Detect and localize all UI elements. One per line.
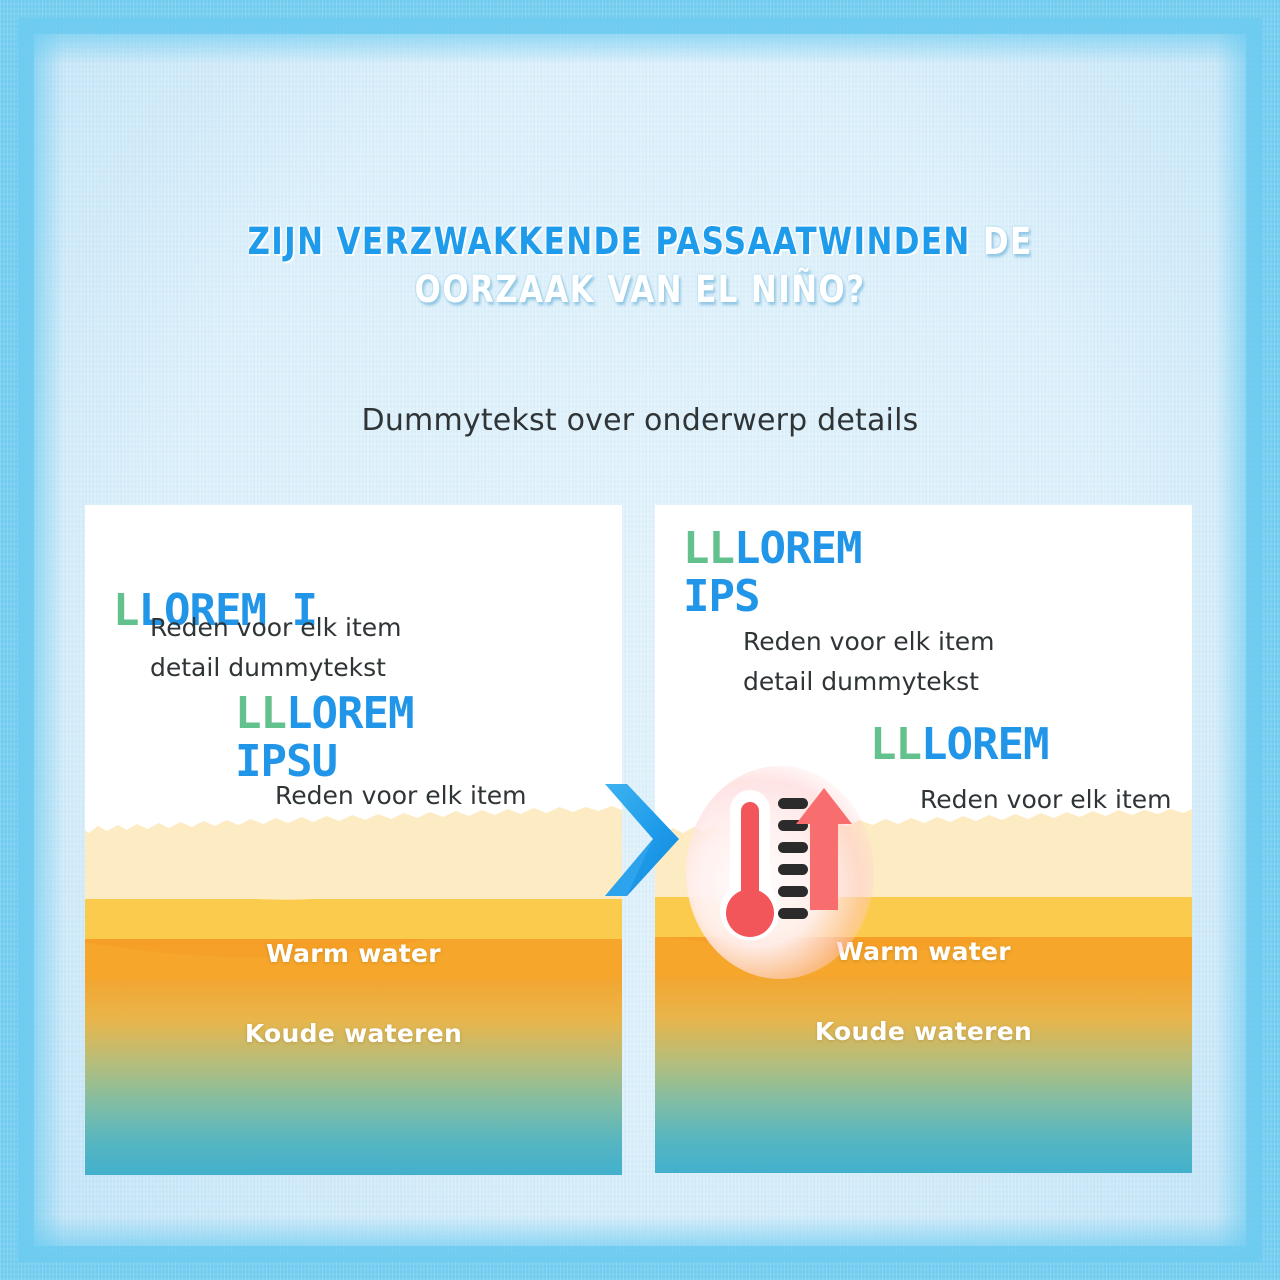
title-line1-white: DE	[983, 220, 1033, 263]
wave-layer-cream	[85, 804, 622, 899]
page-title: ZIJN VERZWAKKENDE PASSAATWINDEN DE OORZA…	[45, 218, 1235, 314]
heading-green-part: LL	[683, 523, 734, 574]
ocean-cold-label: Koude wateren	[655, 1017, 1192, 1046]
heading-green-part: L	[113, 585, 139, 636]
item-heading: LLLOREM IPS	[683, 525, 861, 621]
page-subtitle: Dummytekst over onderwerp details	[0, 403, 1280, 438]
heading-green-part: LL	[235, 688, 286, 739]
ocean-warm-label: Warm water	[85, 939, 622, 968]
title-line1-blue: ZIJN VERZWAKKENDE PASSAATWINDEN	[247, 220, 982, 263]
infographic-canvas: ZIJN VERZWAKKENDE PASSAATWINDEN DE OORZA…	[0, 0, 1280, 1280]
ocean-cold-label: Koude wateren	[85, 1019, 622, 1048]
panel-before: LLOREM I Reden voor elk item detail dumm…	[85, 505, 622, 1175]
item-heading: LLLOREM IPSU	[235, 690, 413, 786]
item-body: Reden voor elk item detail dummytekst	[743, 622, 995, 702]
ocean-illustration: Warm water Koude wateren	[85, 855, 622, 1175]
chevron-right-icon	[601, 782, 685, 900]
thermometer-icon	[700, 780, 860, 965]
heading-blue-part: LOREM	[921, 719, 1048, 770]
title-line2: OORZAAK VAN EL NIÑO?	[414, 268, 865, 311]
heading-green-part: LL	[870, 719, 921, 770]
item-body: Reden voor elk item detail dummytekst	[150, 608, 402, 688]
item-heading: LLLOREM	[870, 721, 1048, 769]
